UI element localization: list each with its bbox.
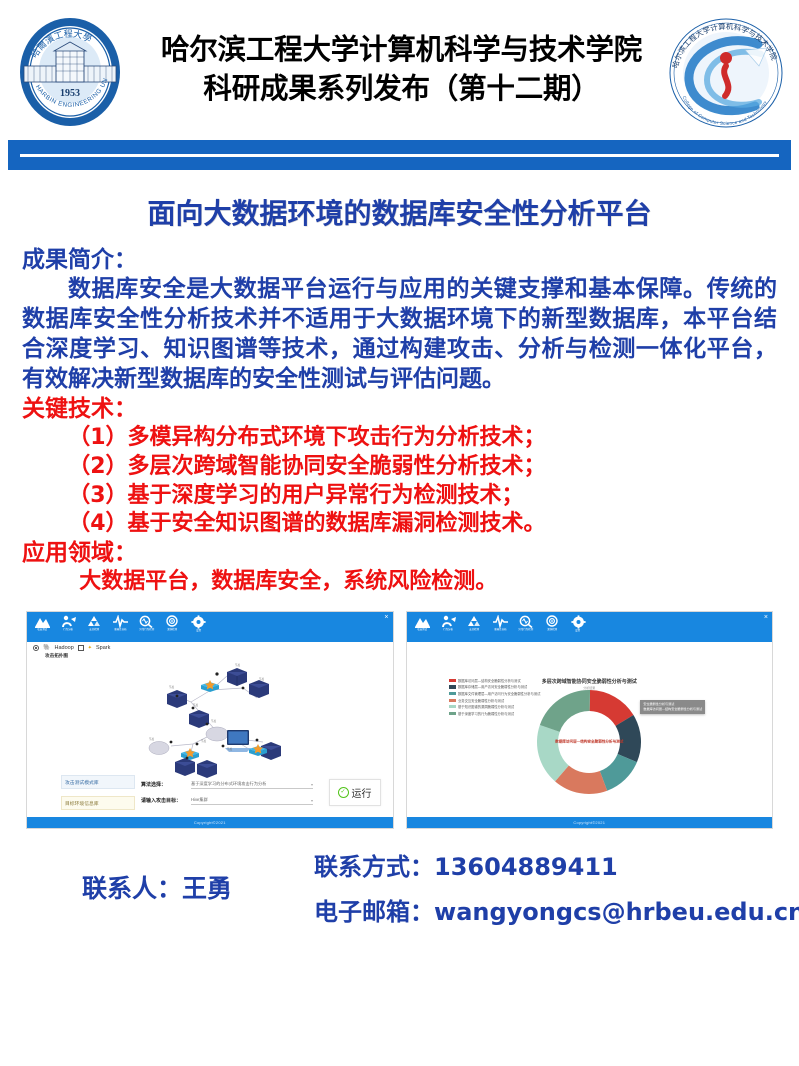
apply-body: 大数据平台，数据库安全，系统风险检测。 xyxy=(22,568,777,597)
app-footer-right: Copyright©2021 xyxy=(407,817,773,828)
check-circle-icon: ✓ xyxy=(338,787,349,798)
toolbar-caption: 漏洞检测 xyxy=(168,628,178,631)
tech-heading: 关键技术： xyxy=(22,395,777,424)
recycle-icon[interactable]: 安全检测 xyxy=(463,615,486,639)
data-person-icon[interactable]: 行为分析 xyxy=(437,615,460,639)
algorithm-label: 算法选择： xyxy=(141,781,187,788)
toolbar-caption: 攻击测试 xyxy=(417,628,427,631)
app-toolbar-right: 攻击测试 行为分析 安全检测 脆弱性分析 异常行为检测 xyxy=(407,612,773,642)
legend-item[interactable]: 业务交互安全脆弱性分析与测试 xyxy=(449,698,541,703)
target-field: 请输入攻击目标： Hive集群 ▾ xyxy=(141,797,313,805)
app-toolbar-left: 攻击测试 行为分析 安全检测 脆弱性分析 异常行为检测 xyxy=(27,612,393,642)
algorithm-value: 基于深度学习的分布式环境攻击行为分析 xyxy=(191,781,266,787)
intro-body: 数据库安全是大数据平台运行与应用的关键支撑和基本保障。传统的数据库安全性分析技术… xyxy=(22,275,777,395)
legend-item[interactable]: 数据库文件管理层—用户访问行为安全脆弱性分析与测试 xyxy=(449,691,541,696)
target-icon[interactable]: 漏洞检测 xyxy=(161,615,184,639)
pulse-icon[interactable]: 脆弱性分析 xyxy=(489,615,512,639)
screenshot-attack-topology: 攻击测试 行为分析 安全检测 脆弱性分析 异常行为检测 xyxy=(26,611,394,829)
chevron-down-icon: ▾ xyxy=(311,782,313,787)
target-label: 请输入攻击目标： xyxy=(141,797,187,804)
legend-label: 基于深度学习的行为脆弱性分析与测试 xyxy=(458,711,514,716)
gear-icon[interactable]: 设置 xyxy=(187,615,210,639)
target-icon[interactable]: 漏洞检测 xyxy=(541,615,564,639)
run-button-label: 运行 xyxy=(352,785,372,800)
data-person-icon[interactable]: 行为分析 xyxy=(57,615,80,639)
target-value: Hive集群 xyxy=(191,797,208,803)
legend-item[interactable]: 基于深度学习的行为脆弱性分析与测试 xyxy=(449,711,541,716)
logo-year: 1953 xyxy=(60,88,80,99)
tech-item: （2）多层次跨域智能协同安全脆弱性分析技术； xyxy=(22,453,777,482)
apply-heading: 应用领域： xyxy=(22,539,777,568)
poster-main: 面向大数据环境的数据库安全性分析平台 成果简介： 数据库安全是大数据平台运行与应… xyxy=(0,170,799,927)
legend-label: 数据库文件管理层—用户访问行为安全脆弱性分析与测试 xyxy=(458,691,540,696)
contact-person-name: 王勇 xyxy=(182,874,232,903)
tooltip-line-2: 数据库访问层—结构安全脆弱性分析与测试 xyxy=(643,707,702,711)
donut-slice[interactable] xyxy=(540,690,590,732)
network-topology-diagram: 节点节点 节点节点 节点节点 节点节点 xyxy=(131,658,331,786)
toolbar-caption: 脆弱性分析 xyxy=(114,628,126,631)
chart-tooltip: 安全脆弱性分析与测试 数据库访问层—结构安全脆弱性分析与测试 xyxy=(640,700,705,714)
chart-mountain-icon[interactable]: 攻击测试 xyxy=(411,615,434,639)
contact-details: 联系方式：13604889411 电子邮箱：wangyongcs@hrbeu.e… xyxy=(314,847,799,927)
contact-email-label: 电子邮箱： xyxy=(314,898,434,926)
screenshot-vulnerability-chart: 攻击测试 行为分析 安全检测 脆弱性分析 异常行为检测 xyxy=(406,611,774,829)
contact-phone: 联系方式：13604889411 xyxy=(314,847,799,882)
svg-text:节点: 节点 xyxy=(201,739,207,743)
toolbar-caption: 行为分析 xyxy=(443,628,453,631)
header-title-line1: 哈尔滨工程大学计算机科学与技术学院 xyxy=(161,31,642,70)
chevron-down-icon: ▾ xyxy=(311,798,313,803)
target-select[interactable]: Hive集群 ▾ xyxy=(191,797,313,805)
header-title-group: 哈尔滨工程大学计算机科学与技术学院 科研成果系列发布（第十二期） xyxy=(161,31,642,109)
tech-list: （1）多模异构分布式环境下攻击行为分析技术； （2）多层次跨域智能协同安全脆弱性… xyxy=(22,424,777,538)
contact-phone-value: 13604889411 xyxy=(434,853,618,881)
form-fields: 算法选择： 基于深度学习的分布式环境攻击行为分析 ▾ 请输入攻击目标： Hive… xyxy=(141,781,313,805)
legend-label: 业务交互安全脆弱性分析与测试 xyxy=(458,698,504,703)
svg-text:节点: 节点 xyxy=(235,663,241,667)
legend-item[interactable]: 基于知识图谱的漏洞脆弱性分析与测试 xyxy=(449,704,541,709)
legend-swatch xyxy=(449,712,456,715)
control-bar: 攻击测试模式库 目标环境信息库 算法选择： 基于深度学习的分布式环境攻击行为分析… xyxy=(27,771,393,815)
chart-legend: 数据库访问层—结构安全脆弱性分析与测试 数据库存储层—用户访问安全脆弱性分析与测… xyxy=(449,678,541,716)
tech-item: （4）基于安全知识图谱的数据库漏洞检测技术。 xyxy=(22,510,777,539)
page-title: 面向大数据环境的数据库安全性分析平台 xyxy=(22,192,777,232)
close-icon[interactable]: × xyxy=(384,614,388,621)
intro-heading: 成果简介： xyxy=(22,246,777,275)
legend-item[interactable]: 数据库访问层—结构安全脆弱性分析与测试 xyxy=(449,678,541,683)
toolbar-caption: 设置 xyxy=(196,629,201,632)
toolbar-caption: 行为分析 xyxy=(64,628,74,631)
attack-mode-library-button[interactable]: 攻击测试模式库 xyxy=(61,775,135,789)
radio-hadoop-label: Hadoop xyxy=(54,645,73,651)
legend-swatch xyxy=(449,692,456,695)
tech-item: （3）基于深度学习的用户异常行为检测技术； xyxy=(22,482,777,511)
algorithm-field: 算法选择： 基于深度学习的分布式环境攻击行为分析 ▾ xyxy=(141,781,313,789)
legend-swatch xyxy=(449,679,456,682)
target-env-library-button[interactable]: 目标环境信息库 xyxy=(61,796,135,810)
radio-spark-box[interactable] xyxy=(78,645,84,651)
contact-person: 联系人：王勇 xyxy=(82,869,232,905)
toolbar-caption: 脆弱性分析 xyxy=(494,628,506,631)
gear-icon[interactable]: 设置 xyxy=(567,615,590,639)
run-button[interactable]: ✓ 运行 xyxy=(329,779,381,806)
contact-section: 联系人：王勇 联系方式：13604889411 电子邮箱：wangyongcs@… xyxy=(22,829,777,927)
tech-item: （1）多模异构分布式环境下攻击行为分析技术； xyxy=(22,424,777,453)
contact-phone-label: 联系方式： xyxy=(314,853,434,881)
donut-center-label: 数据库访问层—结构安全脆弱性分析与测试 xyxy=(555,739,623,744)
svg-text:节点: 节点 xyxy=(149,737,155,741)
legend-label: 数据库访问层—结构安全脆弱性分析与测试 xyxy=(458,678,521,683)
toolbar-caption: 安全检测 xyxy=(90,628,100,631)
chart-title: 多层次跨域智能协同安全脆弱性分析与测试 xyxy=(542,678,637,685)
screenshot-gallery: 攻击测试 行为分析 安全检测 脆弱性分析 异常行为检测 xyxy=(22,611,777,829)
contact-email-value: wangyongcs@hrbeu.edu.cn xyxy=(434,898,799,926)
university-logo: 1953 HARBIN ENGINEERING UNIVERSITY 哈爾濱工程… xyxy=(14,16,126,128)
search-icon[interactable]: 异常行为检测 xyxy=(515,615,538,639)
legend-swatch xyxy=(449,685,456,688)
contact-person-label: 联系人： xyxy=(82,874,182,903)
library-buttons: 攻击测试模式库 目标环境信息库 xyxy=(35,775,135,810)
legend-swatch xyxy=(449,699,456,702)
hadoop-icon: 🐘 xyxy=(43,645,50,651)
toolbar-caption: 漏洞检测 xyxy=(547,628,557,631)
legend-label: 数据库存储层—用户访问安全脆弱性分析与测试 xyxy=(458,684,527,689)
svg-text:节点: 节点 xyxy=(259,677,265,681)
recycle-icon[interactable]: 安全检测 xyxy=(83,615,106,639)
legend-item[interactable]: 数据库存储层—用户访问安全脆弱性分析与测试 xyxy=(449,684,541,689)
header-divider-wrap xyxy=(0,140,799,170)
search-icon[interactable]: 异常行为检测 xyxy=(135,615,158,639)
radio-hadoop-dot[interactable] xyxy=(33,645,39,651)
toolbar-caption: 异常行为检测 xyxy=(139,628,154,631)
spark-icon: ✦ xyxy=(88,645,92,651)
close-icon[interactable]: × xyxy=(764,614,768,621)
header-divider-bar xyxy=(8,140,791,170)
svg-text:节点: 节点 xyxy=(169,685,175,689)
college-logo: 哈尔滨工程大学计算机科学与技术学院 College of Computer Sc… xyxy=(663,14,789,132)
header-title-line2: 科研成果系列发布（第十二期） xyxy=(161,70,642,109)
contact-email: 电子邮箱：wangyongcs@hrbeu.edu.cn xyxy=(314,892,799,927)
platform-radio-group[interactable]: 🐘 Hadoop ✦ Spark xyxy=(27,642,393,651)
app-footer-left: Copyright©2021 xyxy=(27,817,393,828)
algorithm-select[interactable]: 基于深度学习的分布式环境攻击行为分析 ▾ xyxy=(191,781,313,789)
svg-text:节点: 节点 xyxy=(193,703,199,707)
donut-chart: 数据库访问层—结构安全脆弱性分析与测试 xyxy=(533,686,645,798)
chart-mountain-icon[interactable]: 攻击测试 xyxy=(31,615,54,639)
toolbar-caption: 异常行为检测 xyxy=(519,628,534,631)
legend-label: 基于知识图谱的漏洞脆弱性分析与测试 xyxy=(458,704,514,709)
toolbar-caption: 设置 xyxy=(576,629,581,632)
svg-text:节点: 节点 xyxy=(211,719,217,723)
legend-swatch xyxy=(449,705,456,708)
toolbar-caption: 安全检测 xyxy=(469,628,479,631)
poster-header: 1953 HARBIN ENGINEERING UNIVERSITY 哈爾濱工程… xyxy=(0,0,799,140)
radio-spark-label: Spark xyxy=(96,645,110,651)
toolbar-caption: 攻击测试 xyxy=(38,628,48,631)
svg-text:节点: 节点 xyxy=(227,747,233,751)
chart-area: 多层次跨域智能协同安全脆弱性分析与测试 分析结果 数据库访问层—结构安全脆弱性分… xyxy=(407,642,773,829)
pulse-icon[interactable]: 脆弱性分析 xyxy=(109,615,132,639)
